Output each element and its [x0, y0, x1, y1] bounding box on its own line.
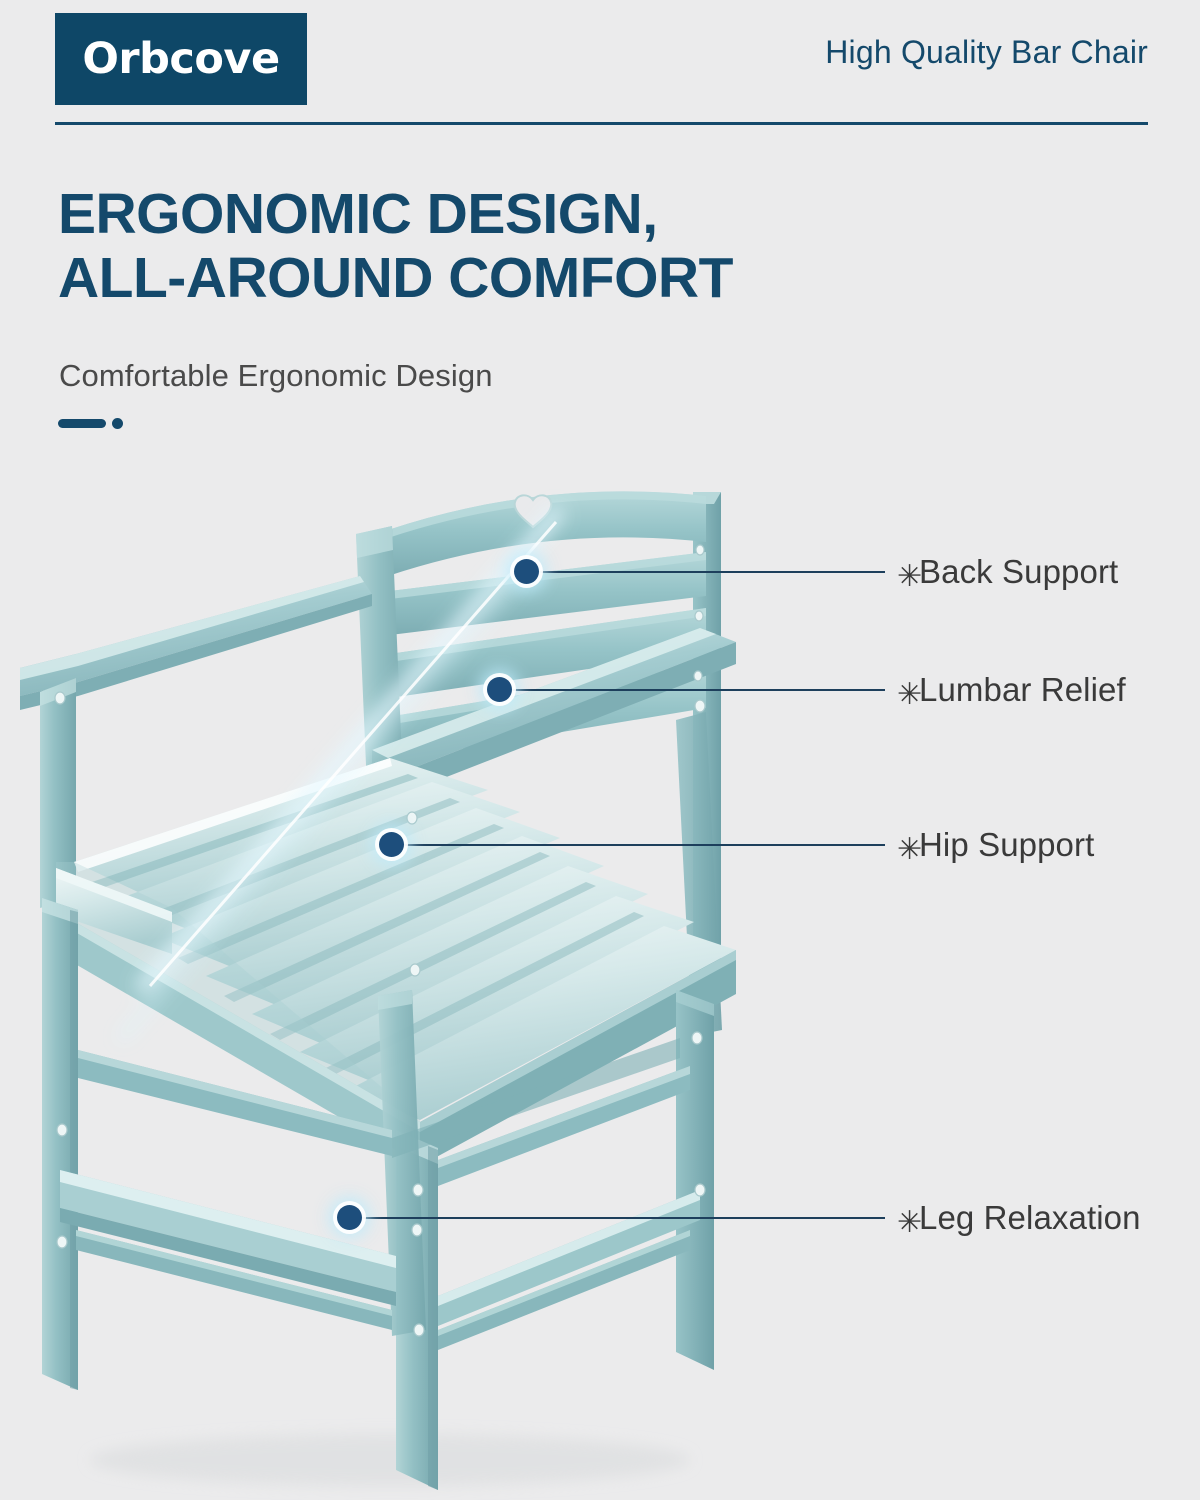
callout-line-hip-support — [392, 844, 885, 846]
callout-line-back-support — [527, 571, 885, 573]
callout-marker-hip-support[interactable] — [379, 832, 404, 857]
callout-marker-lumbar-relief[interactable] — [487, 677, 512, 702]
callout-marker-back-support[interactable] — [514, 559, 539, 584]
callout-label-leg-relaxation: Leg Relaxation — [919, 1199, 1141, 1237]
callout-label-back-support: Back Support — [919, 553, 1118, 591]
callout-label-lumbar-relief: Lumbar Relief — [919, 671, 1126, 709]
callout-marker-leg-relaxation[interactable] — [337, 1205, 362, 1230]
callout-line-lumbar-relief — [500, 689, 885, 691]
callout-label-hip-support: Hip Support — [919, 826, 1094, 864]
callout-line-leg-relaxation — [350, 1217, 885, 1219]
feature-callouts: ✳ Back Support ✳ Lumbar Relief ✳ Hip Sup… — [0, 0, 1200, 1500]
